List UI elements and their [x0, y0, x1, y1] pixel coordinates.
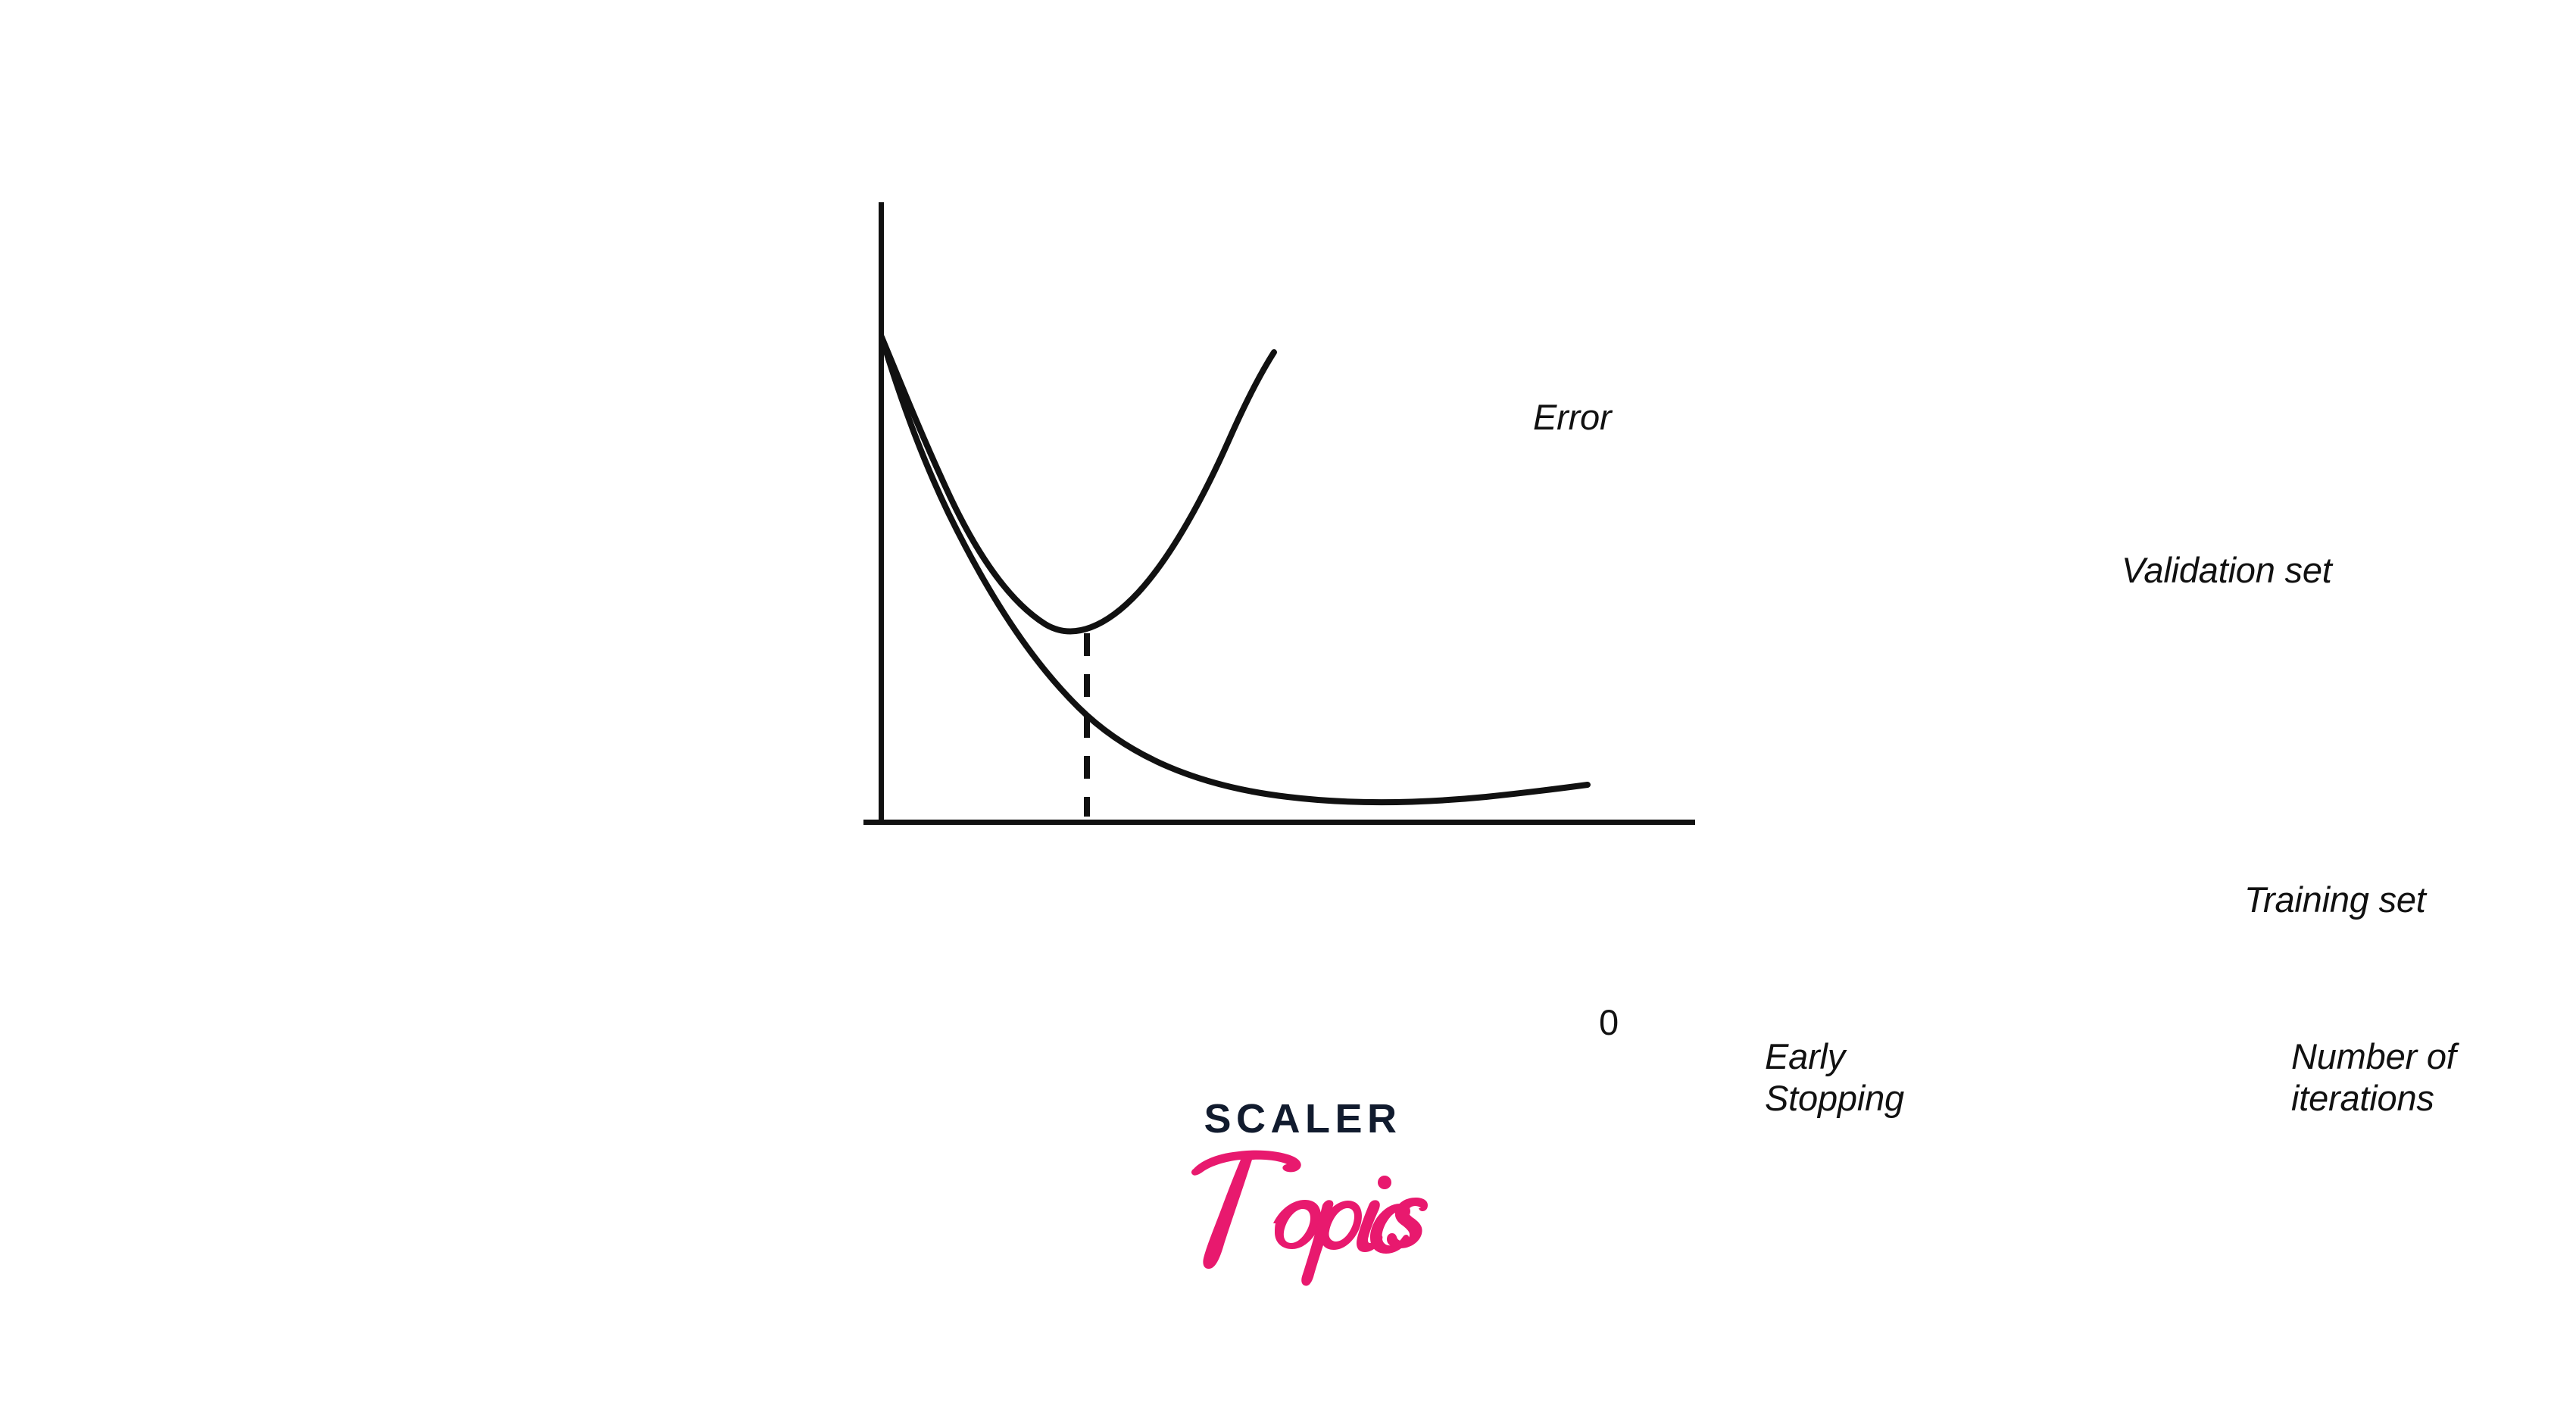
topics-script-wordmark [1182, 1134, 1424, 1263]
chart-plot-area: Error 0 Validation set Training set Earl… [757, 174, 1818, 1023]
validation-set-curve [882, 337, 1274, 631]
y-axis-label: Error [1533, 396, 1611, 438]
x-axis-label-line2: iterations [2291, 1078, 2434, 1118]
validation-set-label: Validation set [2122, 549, 2332, 591]
topics-script-svg [1182, 1134, 1424, 1263]
scaler-topics-logo: SCALER [1182, 1098, 1424, 1288]
early-stopping-label: EarlyStopping [1765, 1035, 1904, 1120]
training-set-label: Training set [2244, 879, 2426, 920]
training-set-curve [882, 337, 1588, 802]
early-stopping-label-line1: Early [1765, 1036, 1845, 1076]
figure-root: Error 0 Validation set Training set Earl… [0, 0, 2576, 1418]
x-axis-label: Number ofiterations [2291, 1035, 2456, 1120]
early-stopping-label-line2: Stopping [1765, 1078, 1904, 1118]
scaler-wordmark: SCALER [1182, 1098, 1424, 1139]
axis-origin-label: 0 [1599, 1001, 1619, 1043]
topics-script-glyphs [1191, 1151, 1428, 1286]
chart-svg [757, 174, 1818, 1023]
x-axis-label-line1: Number of [2291, 1036, 2456, 1076]
